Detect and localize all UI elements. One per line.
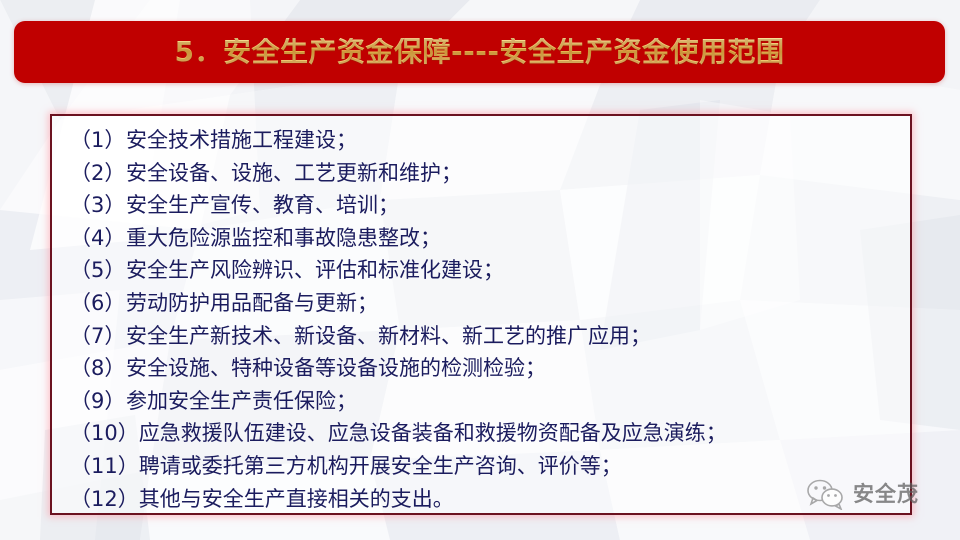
list-item-number: （9）: [70, 385, 126, 418]
list-item-number: （7）: [70, 320, 126, 353]
list-item: （3）安全生产宣传、教育、培训；: [70, 189, 904, 222]
list-item-number: （3）: [70, 189, 126, 222]
list-item-number: （2）: [70, 157, 126, 190]
list-item: （12）其他与安全生产直接相关的支出。: [70, 483, 904, 516]
list-item-number: （11）: [70, 450, 139, 483]
list-item-number: （6）: [70, 287, 126, 320]
list-item-text: 安全生产新技术、新设备、新材料、新工艺的推广应用；: [126, 320, 651, 353]
list-item-number: （12）: [70, 483, 139, 516]
watermark-label: 安全茂: [853, 484, 919, 505]
list-item-number: （4）: [70, 222, 126, 255]
list-item-text: 重大危险源监控和事故隐患整改；: [126, 222, 441, 255]
list-item-text: 聘请或委托第三方机构开展安全生产咨询、评价等；: [139, 450, 622, 483]
list-item-text: 参加安全生产责任保险；: [126, 385, 357, 418]
list-item-text: 应急救援队伍建设、应急设备装备和救援物资配备及应急演练；: [139, 417, 727, 450]
list-item-text: 安全设备、设施、工艺更新和维护；: [126, 157, 462, 190]
page-title: 5．安全生产资金保障----安全生产资金使用范围: [175, 38, 785, 66]
list-item-text: 其他与安全生产直接相关的支出。: [139, 483, 454, 516]
list-item-number: （5）: [70, 254, 126, 287]
list-item: （7）安全生产新技术、新设备、新材料、新工艺的推广应用；: [70, 320, 904, 353]
wechat-icon: [806, 478, 846, 510]
list-item: （5）安全生产风险辨识、评估和标准化建设；: [70, 254, 904, 287]
list-item-text: 安全技术措施工程建设；: [126, 124, 357, 157]
watermark: 安全茂: [806, 478, 919, 510]
list-item: （9）参加安全生产责任保险；: [70, 385, 904, 418]
list-item: （10）应急救援队伍建设、应急设备装备和救援物资配备及应急演练；: [70, 417, 904, 450]
list-item: （6）劳动防护用品配备与更新；: [70, 287, 904, 320]
list-item: （2）安全设备、设施、工艺更新和维护；: [70, 157, 904, 190]
list-item-text: 安全生产宣传、教育、培训；: [126, 189, 399, 222]
list-item: （1）安全技术措施工程建设；: [70, 124, 904, 157]
slide-title-bar: 5．安全生产资金保障----安全生产资金使用范围: [14, 21, 945, 83]
slide-root: 5．安全生产资金保障----安全生产资金使用范围 （1）安全技术措施工程建设； …: [0, 0, 960, 540]
scope-list: （1）安全技术措施工程建设； （2）安全设备、设施、工艺更新和维护； （3）安全…: [70, 124, 904, 515]
list-item: （8）安全设施、特种设备等设备设施的检测检验；: [70, 352, 904, 385]
content-frame: （1）安全技术措施工程建设； （2）安全设备、设施、工艺更新和维护； （3）安全…: [50, 114, 912, 515]
list-item-number: （1）: [70, 124, 126, 157]
list-item-number: （8）: [70, 352, 126, 385]
list-item: （4）重大危险源监控和事故隐患整改；: [70, 222, 904, 255]
list-item-text: 劳动防护用品配备与更新；: [126, 287, 378, 320]
list-item-text: 安全生产风险辨识、评估和标准化建设；: [126, 254, 504, 287]
list-item-text: 安全设施、特种设备等设备设施的检测检验；: [126, 352, 546, 385]
list-item: （11）聘请或委托第三方机构开展安全生产咨询、评价等；: [70, 450, 904, 483]
list-item-number: （10）: [70, 417, 139, 450]
